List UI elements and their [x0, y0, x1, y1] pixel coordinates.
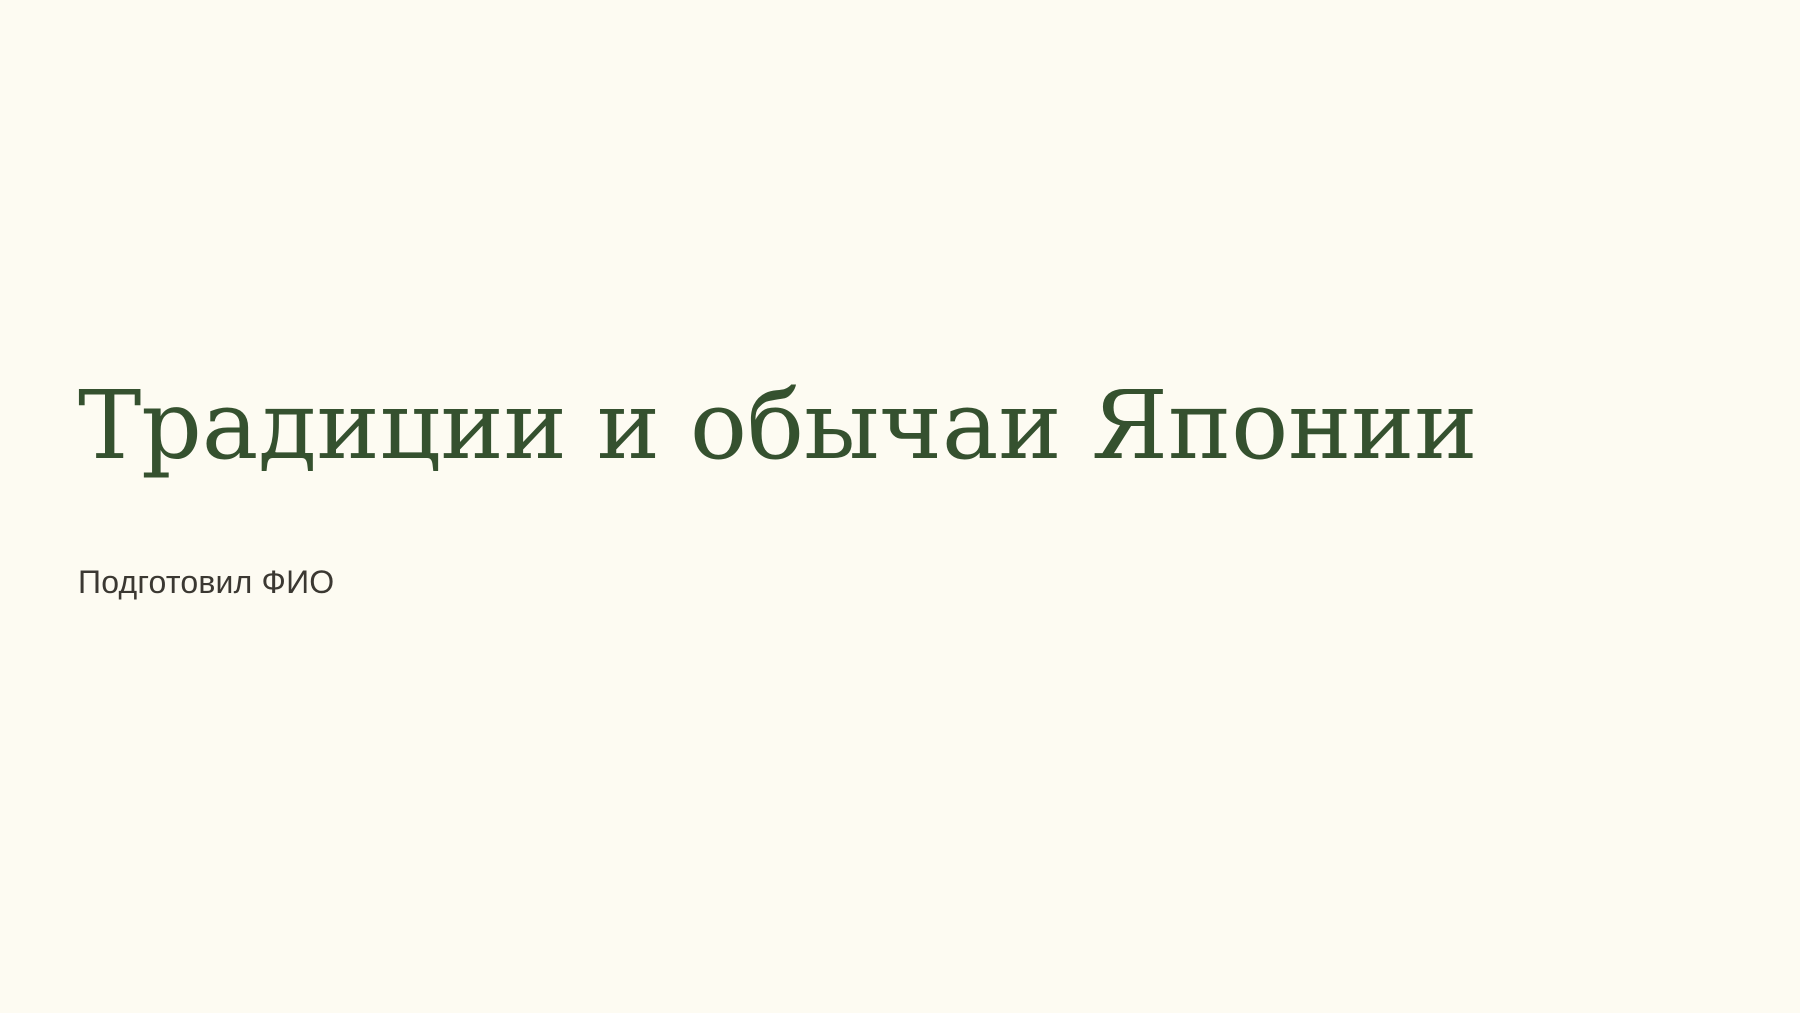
slide-text-block: Традиции и обычаи Японии Подготовил ФИО — [78, 0, 1718, 1013]
slide-title: Традиции и обычаи Японии — [78, 378, 1477, 475]
title-slide: Традиции и обычаи Японии Подготовил ФИО — [0, 0, 1800, 1013]
slide-subtitle-author: Подготовил ФИО — [78, 563, 334, 601]
